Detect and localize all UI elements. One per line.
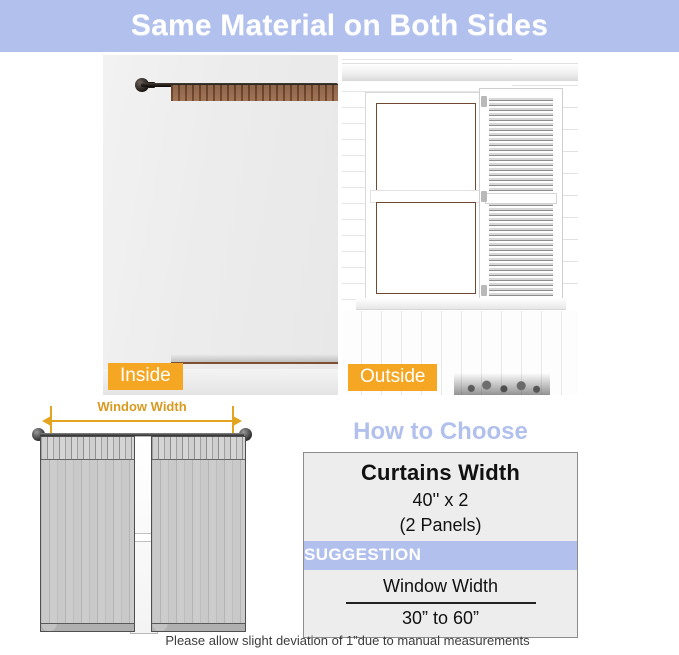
- table-divider: [346, 602, 536, 604]
- curtain-hem: [171, 354, 338, 362]
- shutter-hinge-top-icon: [481, 96, 487, 107]
- size-guide-table: Curtains Width 40'' x 2 (2 Panels) SUGGE…: [303, 452, 578, 638]
- curtains-width-panels: (2 Panels): [304, 513, 577, 541]
- roof-eave-trim: [342, 63, 578, 81]
- outside-photo: Outside: [342, 55, 578, 395]
- diagram-panel-left-header: [41, 437, 134, 460]
- outside-badge: Outside: [348, 364, 437, 391]
- shutter-hinge-middle-icon: [481, 191, 487, 202]
- window-pane-top: [376, 103, 476, 193]
- exterior-window-frame: [366, 93, 486, 308]
- shutter-center-rail: [486, 194, 556, 203]
- how-to-choose-section: How to Choose Curtains Width 40'' x 2 (2…: [303, 420, 578, 638]
- window-pane-bottom: [376, 202, 476, 294]
- inside-photo: Inside: [103, 55, 338, 395]
- page-title: Same Material on Both Sides: [131, 11, 548, 41]
- window-width-arrow: [50, 420, 234, 422]
- window-width-label: Window Width: [18, 400, 266, 413]
- measure-tick-left: [50, 406, 52, 434]
- measure-tick-right: [232, 406, 234, 434]
- footer-note-wrap: Please allow slight deviation of 1”due t…: [0, 634, 679, 647]
- diagram-panel-right: [151, 436, 246, 632]
- shrub: [454, 373, 550, 395]
- curtain-panel-inside: [171, 85, 338, 364]
- window-shutter: [480, 89, 562, 307]
- curtains-width-size: 40'' x 2: [304, 488, 577, 513]
- photo-comparison-row: Inside Outside: [0, 55, 679, 395]
- curtain-rod-pocket: [171, 85, 338, 101]
- shutter-hinge-bottom-icon: [481, 285, 487, 296]
- diagram-panel-left-hem: [41, 623, 134, 631]
- diagram-panel-right-hem: [152, 623, 245, 631]
- measurement-disclaimer: Please allow slight deviation of 1”due t…: [149, 634, 529, 647]
- how-to-choose-title: How to Choose: [303, 420, 578, 444]
- curtains-width-heading: Curtains Width: [304, 453, 577, 488]
- window-mullion: [371, 191, 481, 202]
- inside-badge: Inside: [108, 363, 183, 390]
- diagram-panel-left: [40, 436, 135, 632]
- window-width-diagram: Window Width: [18, 400, 266, 640]
- suggestion-band: SUGGESTION: [304, 541, 577, 570]
- window-width-row-label: Window Width: [304, 570, 577, 599]
- diagram-panel-right-header: [152, 437, 245, 460]
- window-sill: [356, 298, 566, 309]
- header-banner: Same Material on Both Sides: [0, 0, 679, 52]
